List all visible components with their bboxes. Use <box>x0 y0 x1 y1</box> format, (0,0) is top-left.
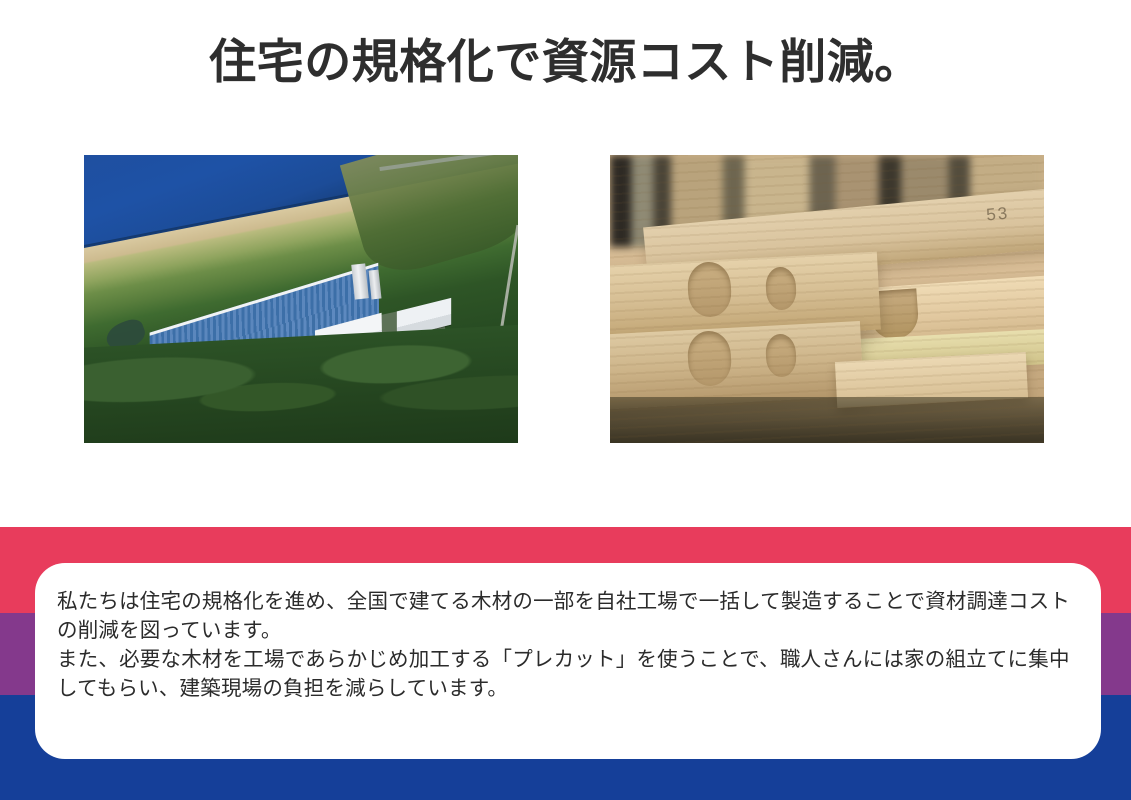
description-text: 私たちは住宅の規格化を進め、全国で建てる木材の一部を自社工場で一括して製造するこ… <box>57 587 1083 703</box>
page-title: 住宅の規格化で資源コスト削減。 <box>209 34 922 91</box>
precut-lumber-photo-inner <box>610 155 1044 443</box>
photo-row <box>0 155 1131 443</box>
description-card: 私たちは住宅の規格化を進め、全国で建てる木材の一部を自社工場で一括して製造するこ… <box>35 563 1101 759</box>
aerial-factory-photo <box>84 155 518 443</box>
slide-root: 住宅の規格化で資源コスト削減。 <box>0 0 1131 800</box>
workshop-floor <box>610 397 1044 443</box>
aerial-factory-photo-inner <box>84 155 518 443</box>
title-area: 住宅の規格化で資源コスト削減。 <box>0 34 1131 91</box>
precut-lumber-photo <box>610 155 1044 443</box>
